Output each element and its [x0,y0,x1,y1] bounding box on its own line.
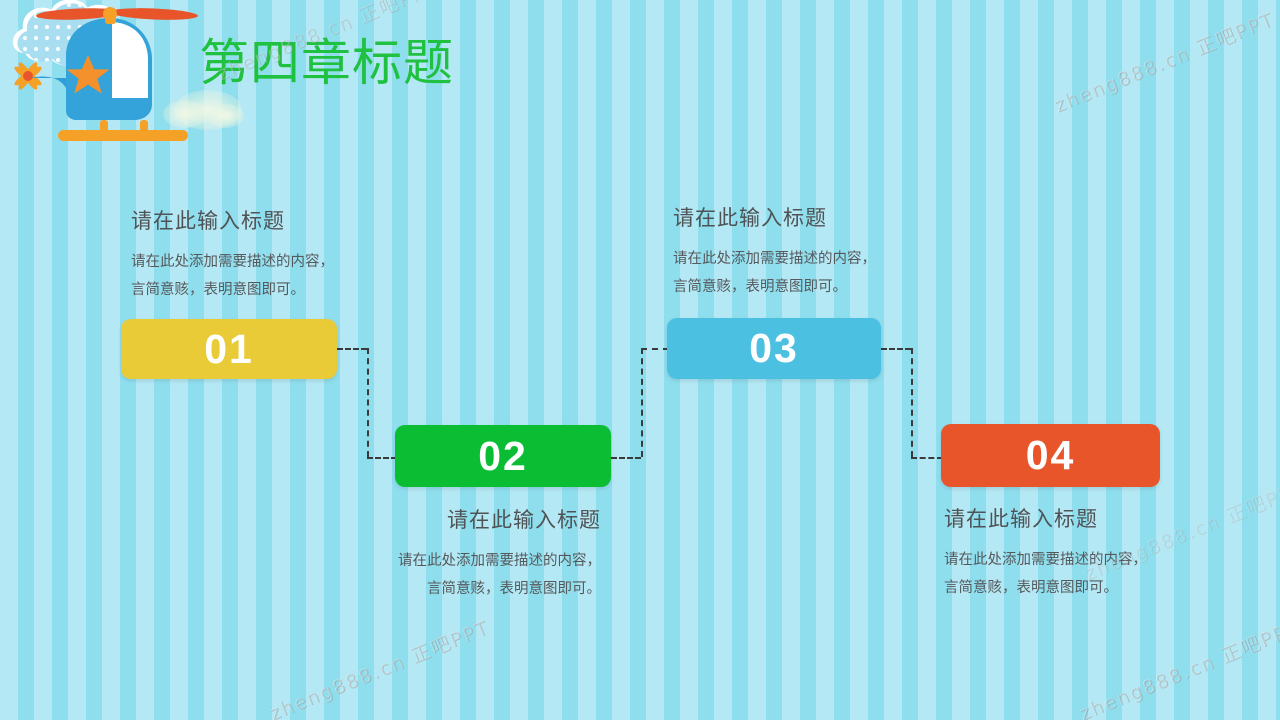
block-body-line-1: 请在此处添加需要描述的内容， [398,547,601,575]
content-block-01: 请在此输入标题 请在此处添加需要描述的内容， 言简意赅，表明意图即可。 [131,205,334,305]
block-body-04: 请在此处添加需要描述的内容， 言简意赅，表明意图即可。 [944,546,1147,603]
content-block-03: 请在此输入标题 请在此处添加需要描述的内容， 言简意赅，表明意图即可。 [673,202,876,302]
step-number-badge-01[interactable]: 01 [121,319,337,379]
block-body-line-1: 请在此处添加需要描述的内容， [673,245,876,273]
content-block-02: 请在此输入标题 请在此处添加需要描述的内容， 言简意赅，表明意图即可。 [398,504,601,604]
smoke-puff [163,90,244,130]
page-title: 第四章标题 [199,38,454,88]
block-body-03: 请在此处添加需要描述的内容， 言简意赅，表明意图即可。 [673,245,876,302]
slide-canvas: 第四章标题 01 02 03 04 请在此输入标题 请在此处添加需要描述的内容，… [0,0,1280,720]
content-block-04: 请在此输入标题 请在此处添加需要描述的内容， 言简意赅，表明意图即可。 [944,503,1147,603]
step-number-badge-03[interactable]: 03 [667,318,881,379]
block-body-line-2: 言简意赅，表明意图即可。 [398,575,601,603]
block-title-01: 请在此输入标题 [131,205,334,235]
block-body-line-2: 言简意赅，表明意图即可。 [944,574,1147,602]
block-body-line-1: 请在此处添加需要描述的内容， [131,248,334,276]
block-body-01: 请在此处添加需要描述的内容， 言简意赅，表明意图即可。 [131,248,334,305]
step-number-badge-04[interactable]: 04 [941,424,1160,487]
block-body-line-2: 言简意赅，表明意图即可。 [673,273,876,301]
block-title-03: 请在此输入标题 [673,202,876,232]
block-title-02: 请在此输入标题 [398,504,601,534]
step-number-badge-02[interactable]: 02 [395,425,611,487]
block-body-line-1: 请在此处添加需要描述的内容， [944,546,1147,574]
block-body-02: 请在此处添加需要描述的内容， 言简意赅，表明意图即可。 [398,547,601,604]
block-title-04: 请在此输入标题 [944,503,1147,533]
block-body-line-2: 言简意赅，表明意图即可。 [131,276,334,304]
tail-rotor [12,60,43,91]
